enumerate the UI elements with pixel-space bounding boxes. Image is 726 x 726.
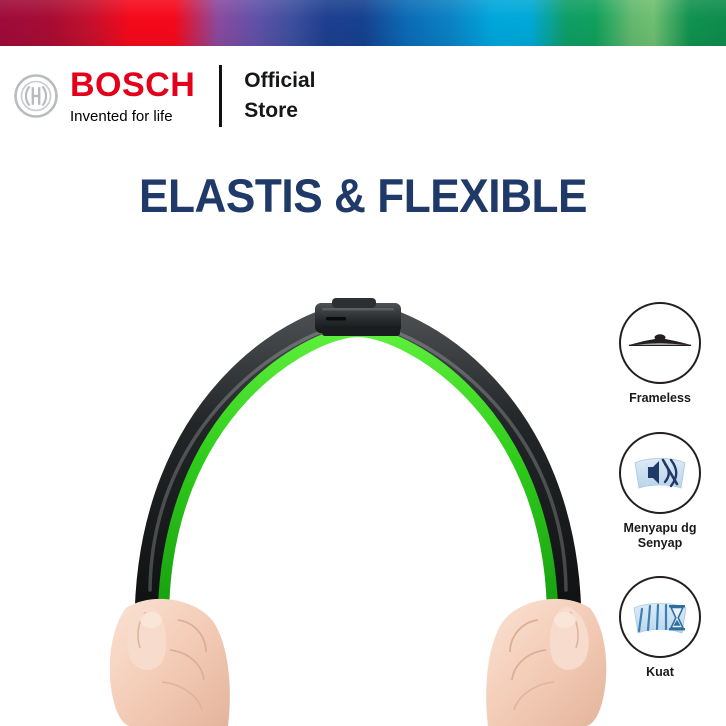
product-promo-image: BOSCH Invented for life Official Store E… [0,0,726,726]
feature-badge-strong: Kuat [608,576,712,680]
official-store-line2: Store [244,96,315,126]
color-gradient-banner [0,0,726,46]
header-divider [219,65,222,127]
feature-badge-quiet: Menyapu dg Senyap [608,432,712,551]
bosch-armature-symbol [14,74,58,118]
wiper-connector-clip [315,298,401,336]
official-store-label: Official Store [244,66,315,127]
badge-label-quiet-line2: Senyap [638,536,682,550]
bosch-tagline: Invented for life [70,109,195,124]
left-hand-gripping-blade [110,599,230,726]
strong-badge-circle [619,576,701,658]
feature-badge-frameless: Frameless [608,302,712,406]
badge-label-quiet: Menyapu dg Senyap [624,521,697,551]
hourglass-durability-icon [623,580,697,654]
right-hand-gripping-blade [486,599,606,726]
wiper-blade-icon [623,306,697,380]
frameless-badge-circle [619,302,701,384]
bosch-wordmark: BOSCH [70,68,195,102]
muted-speaker-windshield-icon [623,436,697,510]
official-store-line1: Official [244,66,315,96]
quiet-badge-circle [619,432,701,514]
badge-label-strong: Kuat [646,665,674,680]
wiper-green-spoiler [162,330,554,620]
brand-header: BOSCH Invented for life Official Store [14,58,315,134]
page-title: ELASTIS & FLEXIBLE [22,168,704,223]
badge-label-frameless: Frameless [629,391,691,406]
product-photo [110,290,610,726]
badge-label-quiet-line1: Menyapu dg [624,521,697,535]
blade-highlight [150,323,566,590]
bosch-wordmark-block: BOSCH Invented for life [70,68,195,124]
wiper-blade-body [146,314,570,626]
